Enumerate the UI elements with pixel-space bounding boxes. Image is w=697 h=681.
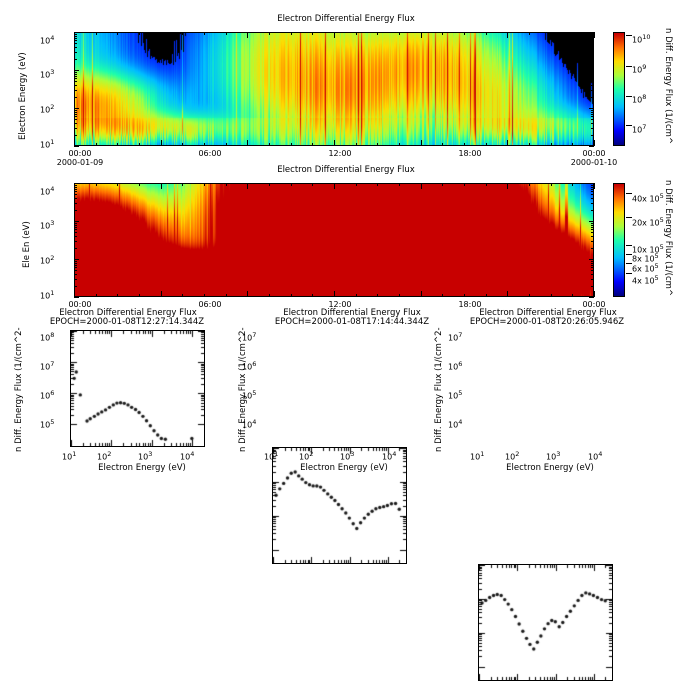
- axis-tick: [269, 294, 270, 297]
- axis-tick: [226, 183, 227, 186]
- axis-tick: [507, 183, 508, 189]
- spectrum-1-ytick-2: 106: [40, 389, 54, 401]
- axis-tick: [161, 140, 162, 146]
- spectrum-2-ytick-1: 106: [242, 360, 256, 372]
- spectrum-3-xtick-1: 102: [505, 450, 519, 462]
- axis-tick: [204, 294, 205, 297]
- axis-tick: [589, 297, 594, 298]
- axis-tick: [74, 270, 77, 271]
- colorbar-tick: [626, 66, 632, 67]
- axis-tick: [594, 183, 595, 189]
- colorbar-tick: [626, 193, 632, 194]
- axis-tick: [591, 116, 594, 117]
- spectrum-2-xtick-0: 101: [264, 450, 278, 462]
- spectrum-2-xlabel: Electron Energy (eV): [274, 463, 414, 473]
- axis-tick: [74, 248, 77, 249]
- axis-tick: [591, 227, 594, 228]
- axis-tick: [139, 32, 140, 35]
- axis-tick: [291, 143, 292, 146]
- axis-tick: [247, 140, 248, 146]
- axis-tick: [591, 128, 594, 129]
- axis-tick: [74, 116, 77, 117]
- spectrogram1-cbtick-1: 109: [632, 63, 646, 75]
- axis-tick: [591, 279, 594, 280]
- axis-tick: [572, 183, 573, 186]
- axis-tick: [594, 32, 595, 38]
- axis-tick: [356, 143, 357, 146]
- axis-tick: [74, 221, 79, 222]
- axis-tick: [334, 140, 335, 146]
- axis-tick: [529, 32, 530, 35]
- axis-tick: [464, 143, 465, 146]
- axis-tick: [74, 194, 77, 195]
- axis-tick: [74, 236, 77, 237]
- axis-tick: [226, 294, 227, 297]
- spectrogram2-cbtick-0: 40x 105: [632, 192, 664, 204]
- axis-tick: [399, 143, 400, 146]
- axis-tick: [529, 294, 530, 297]
- axis-tick: [74, 32, 75, 38]
- axis-tick: [507, 140, 508, 146]
- axis-tick: [591, 123, 594, 124]
- axis-tick: [247, 183, 248, 189]
- axis-tick: [74, 191, 77, 192]
- spectrogram2-ylabel: Ele En (eV): [22, 221, 32, 268]
- axis-tick: [312, 294, 313, 297]
- axis-tick: [74, 183, 75, 189]
- spectrogram2-cbtick-1: 20x 105: [632, 216, 664, 228]
- axis-tick: [117, 32, 118, 35]
- spectrum-1-ylabel: n Diff. Energy Flux (1/(cm^2-: [14, 327, 24, 452]
- axis-tick: [442, 183, 443, 186]
- axis-tick: [591, 232, 594, 233]
- axis-tick: [356, 183, 357, 186]
- axis-tick: [74, 263, 77, 264]
- spectrum-3-xlabel: Electron Energy (eV): [480, 463, 620, 473]
- axis-tick: [74, 52, 77, 53]
- spectrum-2-xtick-1: 102: [299, 450, 313, 462]
- axis-tick: [74, 241, 77, 242]
- spectrum-3-ylabel: n Diff. Energy Flux (1/(cm^2-: [434, 327, 444, 452]
- axis-tick: [589, 221, 594, 222]
- axis-tick: [399, 32, 400, 35]
- axis-tick: [464, 183, 465, 186]
- axis-tick: [96, 32, 97, 35]
- axis-tick: [591, 135, 594, 136]
- spectrogram1-date-end: 2000-01-10: [560, 158, 628, 167]
- spectrogram1-plot-area[interactable]: [74, 32, 594, 146]
- axis-tick: [74, 297, 79, 298]
- spectrum-1-xtick-1: 102: [97, 450, 111, 462]
- axis-tick: [74, 38, 77, 39]
- axis-tick: [507, 32, 508, 38]
- axis-tick: [591, 85, 594, 86]
- spectrogram1-cbtick-2: 108: [632, 93, 646, 105]
- colorbar-tick: [626, 125, 632, 126]
- axis-tick: [591, 210, 594, 211]
- axis-tick: [591, 78, 594, 79]
- axis-tick: [96, 294, 97, 297]
- axis-tick: [377, 32, 378, 35]
- axis-tick: [226, 143, 227, 146]
- spectrum-2-xtick-3: 104: [382, 450, 396, 462]
- spectrum-1-ytick-3: 105: [40, 418, 54, 430]
- axis-tick: [486, 294, 487, 297]
- axis-tick: [591, 119, 594, 120]
- axis-tick: [591, 110, 594, 111]
- spectrum-3-ytick-3: 104: [448, 418, 462, 430]
- axis-tick: [591, 191, 594, 192]
- axis-tick: [591, 97, 594, 98]
- axis-tick: [572, 32, 573, 35]
- axis-tick: [247, 32, 248, 38]
- axis-tick: [377, 294, 378, 297]
- spectrogram1-xtick-2: 12:00: [316, 149, 364, 158]
- axis-tick: [96, 143, 97, 146]
- axis-tick: [464, 32, 465, 35]
- axis-tick: [182, 183, 183, 186]
- axis-tick: [572, 143, 573, 146]
- axis-tick: [74, 78, 77, 79]
- spectrum-1-ytick-0: 108: [40, 331, 54, 343]
- spectrogram2-colorbar-label: n Diff. Energy Flux (1/(cm^: [663, 180, 673, 296]
- axis-tick: [551, 32, 552, 35]
- axis-tick: [74, 97, 77, 98]
- axis-tick: [591, 194, 594, 195]
- spectrogram1-date-start: 2000-01-09: [46, 158, 114, 167]
- axis-tick: [74, 114, 77, 115]
- axis-tick: [74, 81, 77, 82]
- spectrum-3-xtick-3: 104: [588, 450, 602, 462]
- axis-tick: [74, 189, 77, 190]
- axis-tick: [591, 261, 594, 262]
- axis-tick: [247, 291, 248, 297]
- axis-tick: [591, 236, 594, 237]
- axis-tick: [551, 294, 552, 297]
- axis-tick: [591, 263, 594, 264]
- axis-tick: [74, 74, 77, 75]
- axis-tick: [356, 32, 357, 35]
- axis-tick: [291, 294, 292, 297]
- colorbar-tick: [626, 217, 632, 218]
- axis-tick: [591, 198, 594, 199]
- axis-tick: [591, 229, 594, 230]
- axis-tick: [74, 140, 75, 146]
- axis-tick: [74, 119, 77, 120]
- spectrogram1-cbtick-0: 1010: [632, 33, 650, 45]
- axis-tick: [161, 291, 162, 297]
- axis-tick: [291, 183, 292, 186]
- axis-tick: [591, 76, 594, 77]
- axis-tick: [442, 143, 443, 146]
- axis-tick: [74, 259, 79, 260]
- spectrogram1-ytick-1: 103: [40, 68, 54, 80]
- axis-tick: [591, 274, 594, 275]
- colorbar-tick: [626, 96, 632, 97]
- axis-tick: [74, 146, 79, 147]
- spectrogram1-ytick-0: 104: [40, 34, 54, 46]
- axis-tick: [74, 227, 77, 228]
- axis-tick: [529, 143, 530, 146]
- axis-tick: [591, 81, 594, 82]
- axis-tick: [589, 146, 594, 147]
- axis-tick: [591, 38, 594, 39]
- axis-tick: [74, 286, 77, 287]
- axis-tick: [269, 32, 270, 35]
- spectrogram1-colorbar[interactable]: [613, 32, 625, 146]
- spectrogram1-ytick-2: 102: [40, 103, 54, 115]
- spectrum-1-xlabel: Electron Energy (eV): [72, 463, 212, 473]
- spectrogram2-cbtick-4: 6x 105: [632, 262, 659, 274]
- axis-tick: [312, 183, 313, 186]
- axis-tick: [182, 294, 183, 297]
- axis-tick: [226, 32, 227, 35]
- colorbar-tick: [626, 245, 632, 246]
- axis-tick: [334, 291, 335, 297]
- axis-tick: [74, 265, 77, 266]
- axis-tick: [442, 294, 443, 297]
- axis-tick: [591, 112, 594, 113]
- axis-tick: [74, 274, 77, 275]
- spectrum-1-xtick-3: 104: [180, 450, 194, 462]
- axis-tick: [591, 223, 594, 224]
- axis-tick: [74, 267, 77, 268]
- axis-tick: [421, 291, 422, 297]
- axis-tick: [182, 32, 183, 35]
- spectrum-3-epoch: EPOCH=2000-01-08T20:26:05.946Z: [452, 317, 642, 327]
- axis-tick: [139, 294, 140, 297]
- axis-tick: [74, 112, 77, 113]
- axis-tick: [591, 270, 594, 271]
- axis-tick: [74, 210, 77, 211]
- axis-tick: [74, 198, 77, 199]
- spectrum-1-xtick-2: 103: [138, 450, 152, 462]
- axis-tick: [442, 32, 443, 35]
- axis-tick: [74, 108, 79, 109]
- axis-tick: [74, 70, 79, 71]
- axis-tick: [399, 294, 400, 297]
- axis-tick: [312, 143, 313, 146]
- axis-tick: [182, 143, 183, 146]
- spectrogram2-ytick-1: 103: [40, 219, 54, 231]
- spectrogram1-title: Electron Differential Energy Flux: [196, 14, 496, 24]
- axis-tick: [204, 32, 205, 35]
- spectrum-3-ytick-2: 105: [448, 389, 462, 401]
- spectrum-3-xtick-0: 101: [470, 450, 484, 462]
- axis-tick: [591, 72, 594, 73]
- axis-tick: [486, 183, 487, 186]
- axis-tick: [117, 143, 118, 146]
- spectrum-3-ytick-1: 106: [448, 360, 462, 372]
- spectrum-3-plot-area[interactable]: [478, 564, 613, 681]
- spectrum-2-ytick-0: 107: [242, 331, 256, 343]
- axis-tick: [486, 143, 487, 146]
- axis-tick: [421, 140, 422, 146]
- axis-tick: [594, 291, 595, 297]
- axis-tick: [96, 183, 97, 186]
- axis-tick: [312, 32, 313, 35]
- axis-tick: [139, 183, 140, 186]
- axis-tick: [591, 52, 594, 53]
- axis-tick: [74, 59, 77, 60]
- axis-tick: [161, 32, 162, 38]
- axis-tick: [334, 183, 335, 189]
- axis-tick: [591, 286, 594, 287]
- axis-tick: [507, 291, 508, 297]
- axis-tick: [74, 229, 77, 230]
- axis-tick: [74, 110, 77, 111]
- spectrum-2-ytick-3: 104: [242, 418, 256, 430]
- spectrogram1-ylabel: Electron Energy (eV): [18, 52, 28, 140]
- spectrogram2-colorbar[interactable]: [613, 183, 625, 297]
- axis-tick: [591, 43, 594, 44]
- axis-tick: [594, 140, 595, 146]
- spectrogram1-colorbar-label: n Diff. Energy Flux (1/(cm^: [663, 28, 673, 144]
- axis-tick: [421, 183, 422, 189]
- axis-tick: [591, 225, 594, 226]
- axis-tick: [572, 294, 573, 297]
- axis-tick: [117, 183, 118, 186]
- axis-tick: [591, 241, 594, 242]
- spectrogram2-cbtick-5: 4x 105: [632, 274, 659, 286]
- spectrogram1-ytick-3: 101: [40, 138, 54, 150]
- axis-tick: [269, 143, 270, 146]
- axis-tick: [591, 189, 594, 190]
- spectrogram2-ytick-3: 101: [40, 289, 54, 301]
- axis-tick: [291, 32, 292, 35]
- axis-tick: [589, 108, 594, 109]
- axis-tick: [377, 143, 378, 146]
- axis-tick: [269, 183, 270, 186]
- axis-tick: [74, 261, 77, 262]
- spectrum-2-ytick-2: 105: [242, 389, 256, 401]
- axis-tick: [591, 267, 594, 268]
- axis-tick: [161, 183, 162, 189]
- axis-tick: [74, 40, 77, 41]
- axis-tick: [377, 183, 378, 186]
- spectrogram1-xtick-4: 00:00: [570, 149, 618, 158]
- axis-tick: [204, 183, 205, 186]
- axis-tick: [591, 114, 594, 115]
- axis-tick: [74, 232, 77, 233]
- spectrogram1-cbtick-3: 107: [632, 123, 646, 135]
- axis-tick: [591, 203, 594, 204]
- colorbar-tick: [626, 35, 632, 36]
- axis-tick: [529, 183, 530, 186]
- axis-tick: [74, 76, 77, 77]
- spectrum-1-ytick-1: 107: [40, 360, 54, 372]
- spectrum-1-epoch: EPOCH=2000-01-08T12:27:14.344Z: [32, 317, 222, 327]
- spectrum-2-epoch: EPOCH=2000-01-08T17:14:44.344Z: [257, 317, 447, 327]
- axis-tick: [591, 90, 594, 91]
- spectrogram1-xtick-1: 06:00: [186, 149, 234, 158]
- spectrum-1-xtick-0: 101: [62, 450, 76, 462]
- spectrogram1-xtick-3: 18:00: [446, 149, 494, 158]
- spectrogram2-plot-area[interactable]: [74, 183, 594, 297]
- spectrum-2-xtick-2: 103: [340, 450, 354, 462]
- spectrum-3-xtick-2: 103: [546, 450, 560, 462]
- axis-tick: [117, 294, 118, 297]
- axis-tick: [74, 85, 77, 86]
- axis-tick: [591, 59, 594, 60]
- axis-tick: [74, 90, 77, 91]
- axis-tick: [486, 32, 487, 35]
- axis-tick: [74, 43, 77, 44]
- axis-tick: [591, 47, 594, 48]
- axis-tick: [551, 143, 552, 146]
- axis-tick: [591, 248, 594, 249]
- spectrum-1-plot-area[interactable]: [70, 330, 205, 447]
- axis-tick: [464, 294, 465, 297]
- axis-tick: [334, 32, 335, 38]
- axis-tick: [589, 70, 594, 71]
- spectrogram2-ytick-2: 102: [40, 254, 54, 266]
- spectrogram2-title: Electron Differential Energy Flux: [196, 165, 496, 175]
- axis-tick: [74, 203, 77, 204]
- spectrum-3-ytick-0: 107: [448, 331, 462, 343]
- axis-tick: [74, 279, 77, 280]
- axis-tick: [591, 265, 594, 266]
- axis-tick: [74, 223, 77, 224]
- axis-tick: [139, 143, 140, 146]
- axis-tick: [204, 143, 205, 146]
- axis-tick: [74, 123, 77, 124]
- axis-tick: [74, 47, 77, 48]
- colorbar-tick: [626, 254, 632, 255]
- axis-tick: [399, 183, 400, 186]
- axis-tick: [551, 183, 552, 186]
- axis-tick: [591, 74, 594, 75]
- axis-tick: [356, 294, 357, 297]
- axis-tick: [74, 291, 75, 297]
- axis-tick: [74, 72, 77, 73]
- colorbar-tick: [626, 263, 632, 264]
- axis-tick: [421, 32, 422, 38]
- spectrogram1-xtick-0: 00:00: [56, 149, 104, 158]
- axis-tick: [589, 259, 594, 260]
- axis-tick: [74, 225, 77, 226]
- axis-tick: [591, 40, 594, 41]
- axis-tick: [74, 128, 77, 129]
- colorbar-tick: [626, 273, 632, 274]
- spectrogram2-ytick-0: 104: [40, 185, 54, 197]
- axis-tick: [74, 135, 77, 136]
